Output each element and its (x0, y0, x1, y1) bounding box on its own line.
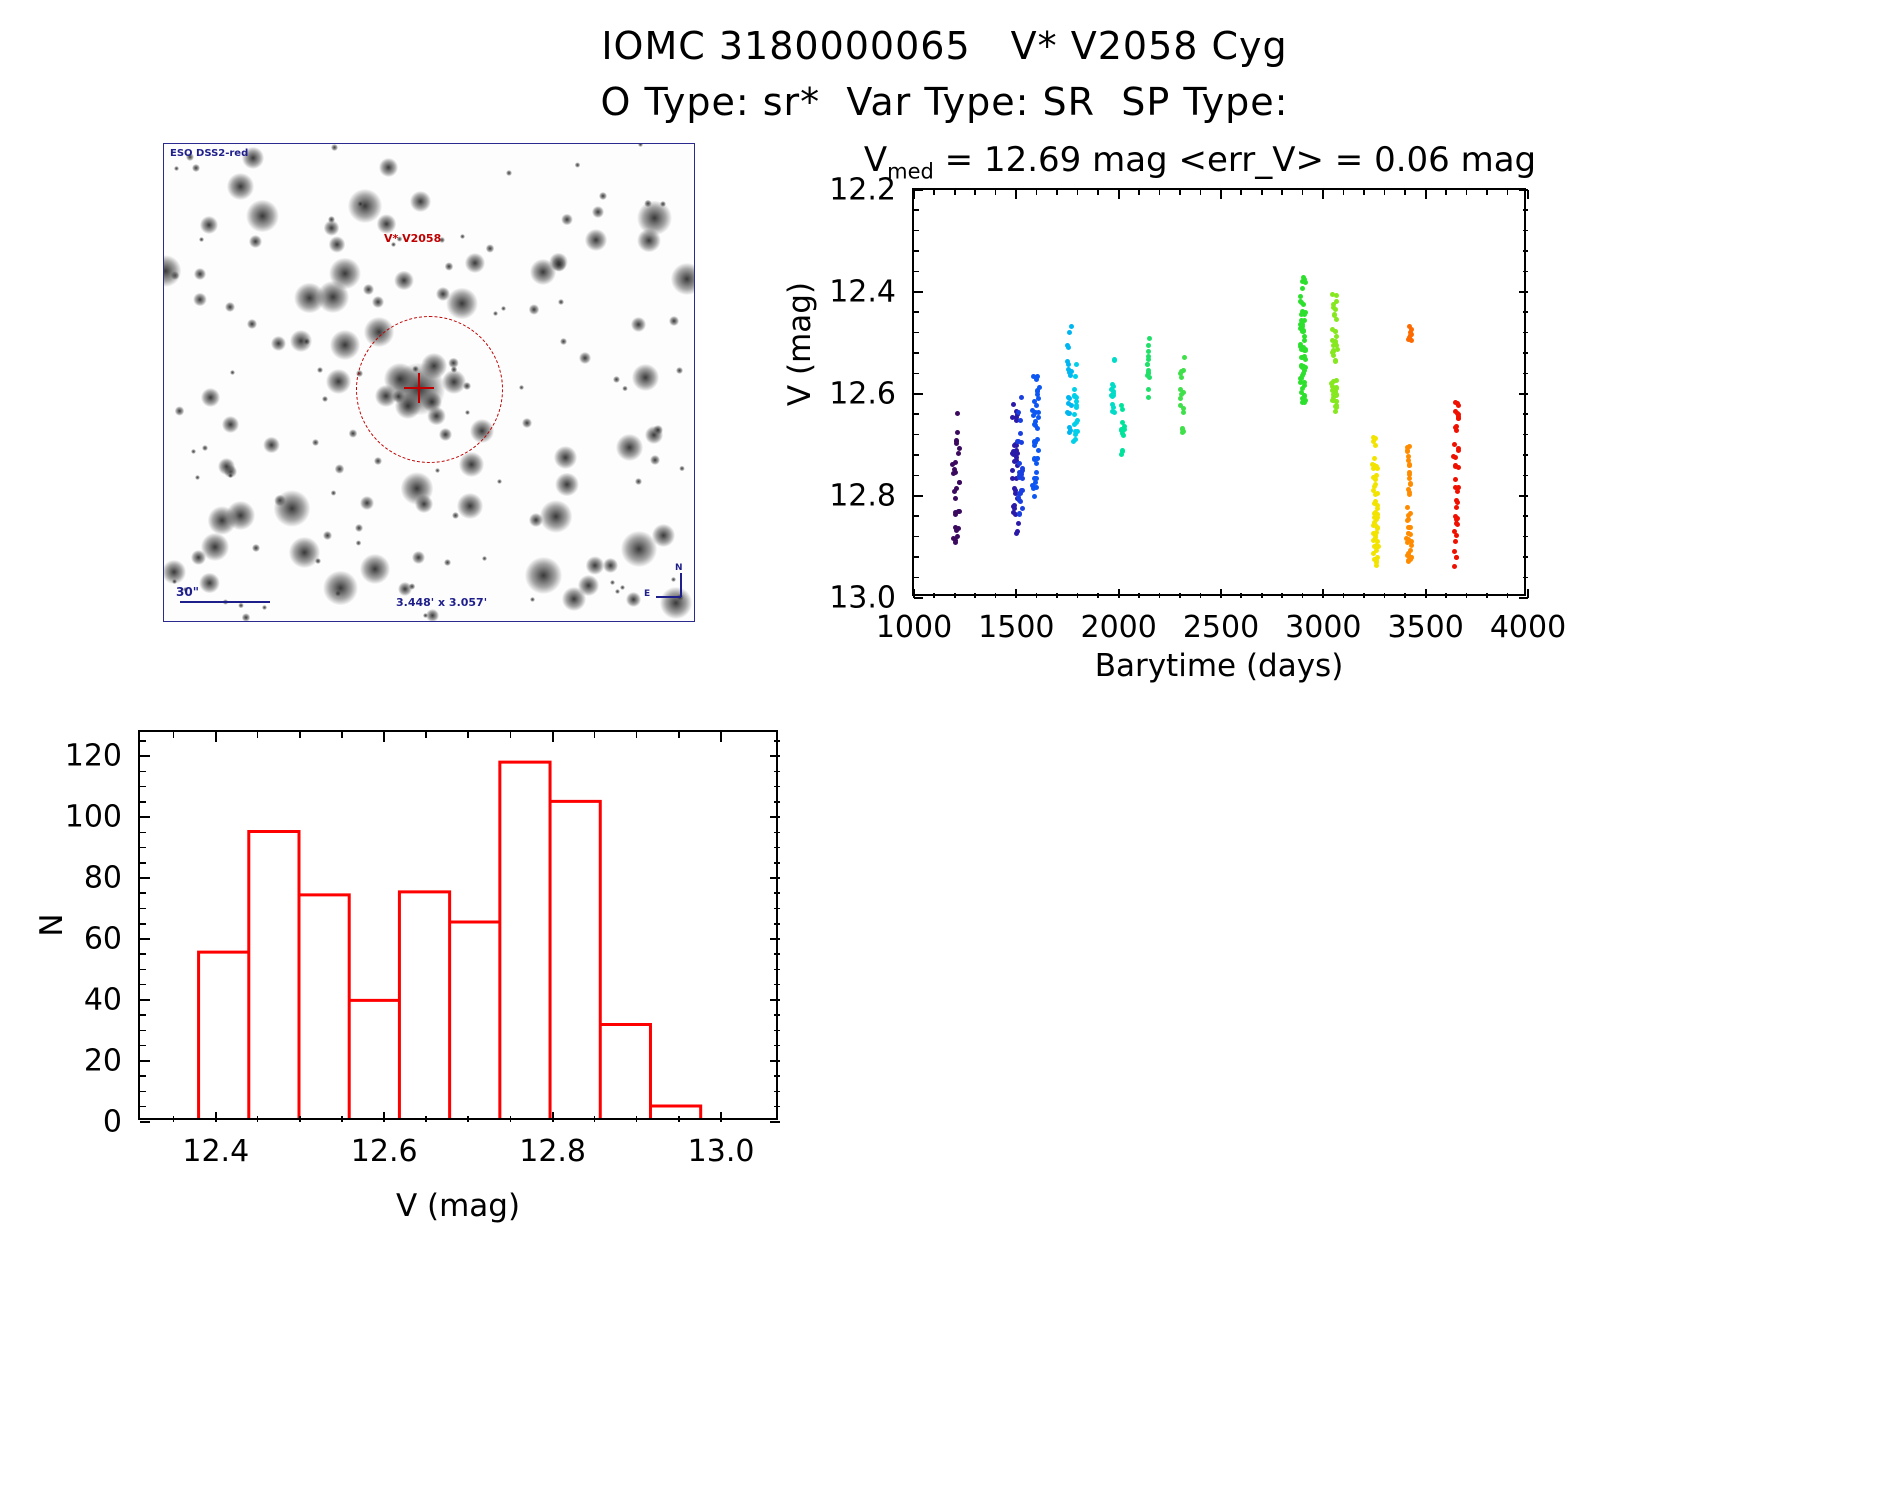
data-point (1300, 309, 1305, 314)
data-point (1455, 516, 1460, 521)
x-minor-tick (974, 593, 976, 598)
x-minor-tick-top (1281, 190, 1283, 195)
data-point (1111, 393, 1116, 398)
star-point (501, 306, 506, 311)
y-tick-label: 13.0 (829, 581, 896, 616)
star-point (360, 554, 390, 584)
star-point (410, 191, 431, 212)
star-point (519, 385, 524, 390)
data-point (1112, 357, 1117, 362)
data-point (1018, 418, 1023, 423)
star-point (348, 189, 383, 224)
star-point (394, 271, 414, 291)
y-minor-tick (914, 311, 919, 313)
hist-y-minor-tick-right (774, 908, 780, 910)
star-point (330, 330, 360, 360)
star-point (632, 364, 659, 391)
scale-bar-label: 30" (176, 585, 199, 599)
data-point (1405, 518, 1410, 523)
data-point (1121, 433, 1126, 438)
x-tick-label: 3000 (1285, 610, 1361, 645)
hist-y-tick-label: 80 (84, 861, 122, 896)
hist-x-tick-label: 12.8 (519, 1134, 586, 1169)
data-point (1455, 522, 1460, 527)
star-point (315, 558, 322, 565)
y-minor-tick-right (1523, 352, 1528, 354)
star-point (575, 162, 581, 168)
y-minor-tick-right (1523, 577, 1528, 579)
data-point (1120, 407, 1125, 412)
data-point (1334, 293, 1339, 298)
x-minor-tick-top (1200, 190, 1202, 195)
hist-x-minor-tick (594, 1116, 596, 1122)
hist-y-minor-tick-right (774, 740, 780, 742)
data-point (1067, 330, 1072, 335)
star-point (262, 605, 267, 610)
x-minor-tick (1240, 593, 1242, 598)
data-point (1179, 392, 1184, 397)
hist-y-tick-label: 60 (84, 922, 122, 957)
y-major-tick (914, 597, 923, 599)
x-minor-tick-top (1077, 190, 1079, 195)
hist-y-minor-tick-right (774, 1045, 780, 1047)
x-minor-tick-top (1507, 190, 1509, 195)
data-point (1074, 395, 1079, 400)
hist-y-minor-tick-right (774, 923, 780, 925)
data-point (1067, 430, 1072, 435)
hist-y-minor-tick-right (774, 862, 780, 864)
page-title: IOMC 3180000065V* V2058 Cyg O Type: sr* … (0, 18, 1889, 130)
star-point (436, 287, 450, 301)
o-type-value: sr* (763, 80, 820, 124)
data-point (1011, 402, 1016, 407)
star-point (201, 533, 229, 561)
data-point (1072, 387, 1077, 392)
hist-y-minor-tick (140, 953, 146, 955)
hist-x-minor-tick-top (425, 732, 427, 738)
data-point (1011, 510, 1016, 515)
scale-bar (180, 601, 270, 603)
data-point (1181, 410, 1186, 415)
x-minor-tick-top (1138, 190, 1140, 195)
hist-y-major-tick-right (770, 1060, 780, 1062)
x-tick-label: 3500 (1387, 610, 1463, 645)
data-point (1376, 544, 1381, 549)
star-point (637, 201, 671, 235)
star-point (616, 434, 643, 461)
star-point (246, 200, 279, 233)
data-point (1453, 400, 1458, 405)
star-point (222, 416, 239, 433)
hist-y-minor-tick-right (774, 892, 780, 894)
data-point (1020, 506, 1025, 511)
hist-x-major-tick (383, 1112, 385, 1122)
data-point (1303, 365, 1308, 370)
data-point (1303, 280, 1308, 285)
star-point (631, 317, 646, 332)
hist-x-major-tick-top (383, 732, 385, 742)
x-tick-label: 4000 (1490, 610, 1566, 645)
star-point (238, 603, 243, 608)
x-tick-label: 1500 (978, 610, 1054, 645)
y-minor-tick (914, 577, 919, 579)
hist-y-minor-tick (140, 1075, 146, 1077)
data-point (1409, 338, 1414, 343)
vmed-summary: Vmed = 12.69 mag <err_V> = 0.06 mag (820, 140, 1580, 183)
star-point (552, 257, 566, 271)
star-point (326, 369, 351, 394)
x-major-tick-top (1322, 190, 1324, 199)
histogram-step-outline (199, 762, 701, 1118)
x-minor-tick-top (1159, 190, 1161, 195)
title-line-2: O Type: sr* Var Type: SR SP Type: (0, 74, 1889, 130)
star-point (372, 296, 384, 308)
data-point (1017, 512, 1022, 517)
star-point (242, 613, 250, 621)
histogram-axes: 12.412.612.813.0020406080100120 (138, 730, 778, 1120)
hist-y-minor-tick (140, 832, 146, 834)
data-point (1407, 476, 1412, 481)
star-point (363, 284, 374, 295)
y-minor-tick (914, 454, 919, 456)
data-point (1020, 476, 1025, 481)
star-point (331, 144, 338, 151)
x-major-tick-top (913, 190, 915, 199)
data-point (1409, 539, 1414, 544)
data-point (1302, 400, 1307, 405)
star-point (586, 556, 605, 575)
data-point (956, 526, 961, 531)
y-minor-tick (914, 434, 919, 436)
data-point (1010, 468, 1015, 473)
y-minor-tick (914, 271, 919, 273)
star-point (635, 478, 642, 485)
star-point (412, 551, 425, 564)
hist-y-minor-tick-right (774, 953, 780, 955)
star-point (562, 587, 586, 611)
x-major-tick-top (1527, 190, 1529, 199)
star-point (457, 493, 483, 519)
light-curve-axes: 100015002000250030003500400012.212.412.6… (912, 188, 1526, 596)
hist-y-minor-tick (140, 786, 146, 788)
data-point (1374, 517, 1379, 522)
target-aperture-circle (356, 316, 503, 463)
data-point (1371, 551, 1376, 556)
star-point (610, 580, 615, 585)
x-major-tick (1015, 589, 1017, 598)
data-point (1454, 555, 1459, 560)
hist-y-minor-tick-right (774, 771, 780, 773)
data-point (1179, 369, 1184, 374)
x-minor-tick-top (954, 190, 956, 195)
star-point (200, 216, 218, 234)
star-point (226, 501, 255, 530)
hist-y-minor-tick-right (774, 1091, 780, 1093)
star-point (679, 466, 685, 472)
hist-x-minor-tick (341, 1116, 343, 1122)
data-point (1453, 455, 1458, 460)
star-point (194, 268, 206, 280)
star-point (349, 429, 358, 438)
x-minor-tick (1302, 593, 1304, 598)
data-point (1036, 448, 1041, 453)
star-point (360, 496, 375, 511)
hist-y-minor-tick (140, 892, 146, 894)
x-minor-tick-top (1384, 190, 1386, 195)
x-minor-tick (1200, 593, 1202, 598)
hist-y-major-tick-right (770, 877, 780, 879)
star-point (357, 201, 363, 207)
hist-y-minor-tick-right (774, 1106, 780, 1108)
star-point (626, 592, 641, 607)
star-point (199, 573, 220, 594)
data-point (1334, 386, 1339, 391)
x-major-tick-top (1015, 190, 1017, 199)
hist-y-minor-tick (140, 801, 146, 803)
hist-y-major-tick (140, 816, 150, 818)
hist-x-minor-tick-top (467, 732, 469, 738)
y-major-tick-right (1519, 495, 1528, 497)
data-point (956, 451, 961, 456)
y-minor-tick (914, 413, 919, 415)
data-point (1034, 476, 1039, 481)
data-point (1068, 373, 1073, 378)
star-point (294, 283, 324, 313)
hist-x-minor-tick (636, 1116, 638, 1122)
x-minor-tick (1159, 593, 1161, 598)
data-point (1333, 358, 1338, 363)
x-minor-tick (1097, 593, 1099, 598)
y-minor-tick (914, 230, 919, 232)
data-point (953, 496, 958, 501)
hist-x-major-tick-top (552, 732, 554, 742)
star-point (465, 253, 484, 272)
data-point (955, 411, 960, 416)
vmed-text: = 12.69 mag <err_V> = 0.06 mag (934, 140, 1536, 180)
star-point (323, 571, 358, 606)
hist-y-minor-tick (140, 1106, 146, 1108)
star-point (525, 557, 562, 594)
title-line-1: IOMC 3180000065V* V2058 Cyg (0, 18, 1889, 74)
data-point (1406, 458, 1411, 463)
star-point (561, 214, 573, 226)
star-point (486, 244, 495, 253)
data-point (951, 471, 956, 476)
y-minor-tick (914, 209, 919, 211)
star-point (377, 214, 396, 233)
star-point (355, 524, 363, 532)
hist-y-minor-tick-right (774, 801, 780, 803)
star-point (529, 304, 539, 314)
data-point (1034, 377, 1039, 382)
data-point (1146, 395, 1151, 400)
data-point (1069, 324, 1074, 329)
data-point (1407, 463, 1412, 468)
data-point (1035, 437, 1040, 442)
star-point (676, 367, 683, 374)
hist-y-major-tick (140, 755, 150, 757)
x-minor-tick-top (933, 190, 935, 195)
data-point (1333, 341, 1338, 346)
star-point (322, 396, 328, 402)
data-point (1332, 313, 1337, 318)
y-minor-tick-right (1523, 454, 1528, 456)
hist-y-minor-tick (140, 862, 146, 864)
star-point (317, 367, 322, 372)
data-point (1182, 355, 1187, 360)
star-point (638, 143, 643, 147)
star-point (560, 338, 567, 345)
star-point (579, 352, 591, 364)
data-point (1333, 409, 1338, 414)
hist-y-minor-tick (140, 1014, 146, 1016)
x-minor-tick (1343, 593, 1345, 598)
y-major-tick (914, 189, 923, 191)
data-point (1032, 494, 1037, 499)
star-point (622, 386, 627, 391)
finder-chart-image: ESO DSS2-red V* V2058 30" 3.448' x 3.057… (163, 143, 695, 622)
star-point (555, 473, 579, 497)
x-minor-tick (954, 593, 956, 598)
hist-y-minor-tick (140, 984, 146, 986)
data-point (1454, 533, 1459, 538)
hist-y-major-tick-right (770, 816, 780, 818)
hist-y-minor-tick (140, 923, 146, 925)
data-point (1456, 485, 1461, 490)
x-minor-tick-top (1343, 190, 1345, 195)
x-minor-tick (1281, 593, 1283, 598)
x-minor-tick-top (1445, 190, 1447, 195)
star-point (274, 490, 310, 526)
x-minor-tick (933, 593, 935, 598)
hist-y-minor-tick-right (774, 1014, 780, 1016)
hist-y-tick-label: 0 (103, 1105, 122, 1140)
x-minor-tick (1077, 593, 1079, 598)
x-tick-label: 2000 (1080, 610, 1156, 645)
data-point (1181, 406, 1186, 411)
x-minor-tick (1486, 593, 1488, 598)
hist-x-minor-tick (510, 1116, 512, 1122)
star-point (493, 311, 498, 316)
star-point (599, 192, 606, 199)
hist-x-minor-tick (425, 1116, 427, 1122)
hist-y-major-tick (140, 938, 150, 940)
hist-x-tick-label: 12.4 (182, 1134, 249, 1169)
data-point (953, 540, 958, 545)
hist-x-minor-tick-top (257, 732, 259, 738)
star-point (671, 263, 695, 295)
x-minor-tick-top (1056, 190, 1058, 195)
hist-x-minor-tick-top (636, 732, 638, 738)
data-point (1299, 390, 1304, 395)
hist-y-tick-label: 20 (84, 1044, 122, 1079)
y-minor-tick-right (1523, 434, 1528, 436)
hist-y-minor-tick-right (774, 969, 780, 971)
histogram-x-axis-title: V (mag) (396, 1188, 520, 1224)
star-point (335, 464, 345, 474)
y-major-tick-right (1519, 597, 1528, 599)
star-point (249, 235, 262, 248)
data-point (1298, 299, 1303, 304)
y-minor-tick-right (1523, 413, 1528, 415)
y-tick-label: 12.2 (829, 173, 896, 208)
hist-x-minor-tick (299, 1116, 301, 1122)
star-point (558, 299, 564, 305)
data-point (1405, 449, 1410, 454)
data-point (1454, 505, 1459, 510)
hist-y-major-tick (140, 1121, 150, 1123)
data-point (1334, 378, 1339, 383)
star-point (227, 173, 253, 199)
y-minor-tick (914, 352, 919, 354)
var-type-label: Var Type: (846, 80, 1029, 124)
star-point (174, 166, 179, 171)
catalog-id: IOMC 3180000065 (601, 24, 970, 68)
data-point (1407, 490, 1412, 495)
x-minor-tick (1466, 593, 1468, 598)
star-point (163, 255, 181, 286)
star-point (379, 158, 398, 177)
field-of-view-label: 3.448' x 3.057' (396, 596, 487, 609)
star-point (289, 537, 320, 568)
x-minor-tick-top (1404, 190, 1406, 195)
hist-x-minor-tick-top (299, 732, 301, 738)
hist-x-minor-tick (678, 1116, 680, 1122)
data-point (955, 430, 960, 435)
star-point (426, 609, 439, 622)
star-name: V* V2058 Cyg (1011, 24, 1288, 68)
data-point (1074, 362, 1079, 367)
star-point (522, 418, 532, 428)
y-major-tick-right (1519, 291, 1528, 293)
y-tick-label: 12.4 (829, 275, 896, 310)
data-point (952, 489, 957, 494)
data-point (1014, 455, 1019, 460)
data-point (1073, 374, 1078, 379)
y-minor-tick (914, 332, 919, 334)
star-point (193, 293, 206, 306)
hist-x-minor-tick (173, 1116, 175, 1122)
data-point (1452, 442, 1457, 447)
data-point (1034, 485, 1039, 490)
star-point (328, 216, 335, 223)
compass-rose-icon: N E (642, 565, 688, 611)
star-point (195, 475, 200, 480)
star-point (435, 468, 440, 473)
star-point (620, 585, 625, 590)
star-point (175, 406, 185, 416)
hist-x-minor-tick-top (594, 732, 596, 738)
y-minor-tick-right (1523, 556, 1528, 558)
data-point (1302, 380, 1307, 385)
star-point (323, 531, 331, 539)
x-major-tick (1322, 589, 1324, 598)
y-minor-tick (914, 556, 919, 558)
hist-y-minor-tick (140, 908, 146, 910)
star-point (615, 589, 620, 594)
data-point (957, 480, 962, 485)
x-minor-tick (1384, 593, 1386, 598)
data-point (1302, 338, 1307, 343)
data-point (1334, 317, 1339, 322)
data-point (1300, 373, 1305, 378)
y-minor-tick (914, 475, 919, 477)
star-point (191, 449, 196, 454)
data-point (1181, 429, 1186, 434)
x-major-tick (1220, 589, 1222, 598)
hist-y-minor-tick-right (774, 847, 780, 849)
y-major-tick (914, 495, 923, 497)
